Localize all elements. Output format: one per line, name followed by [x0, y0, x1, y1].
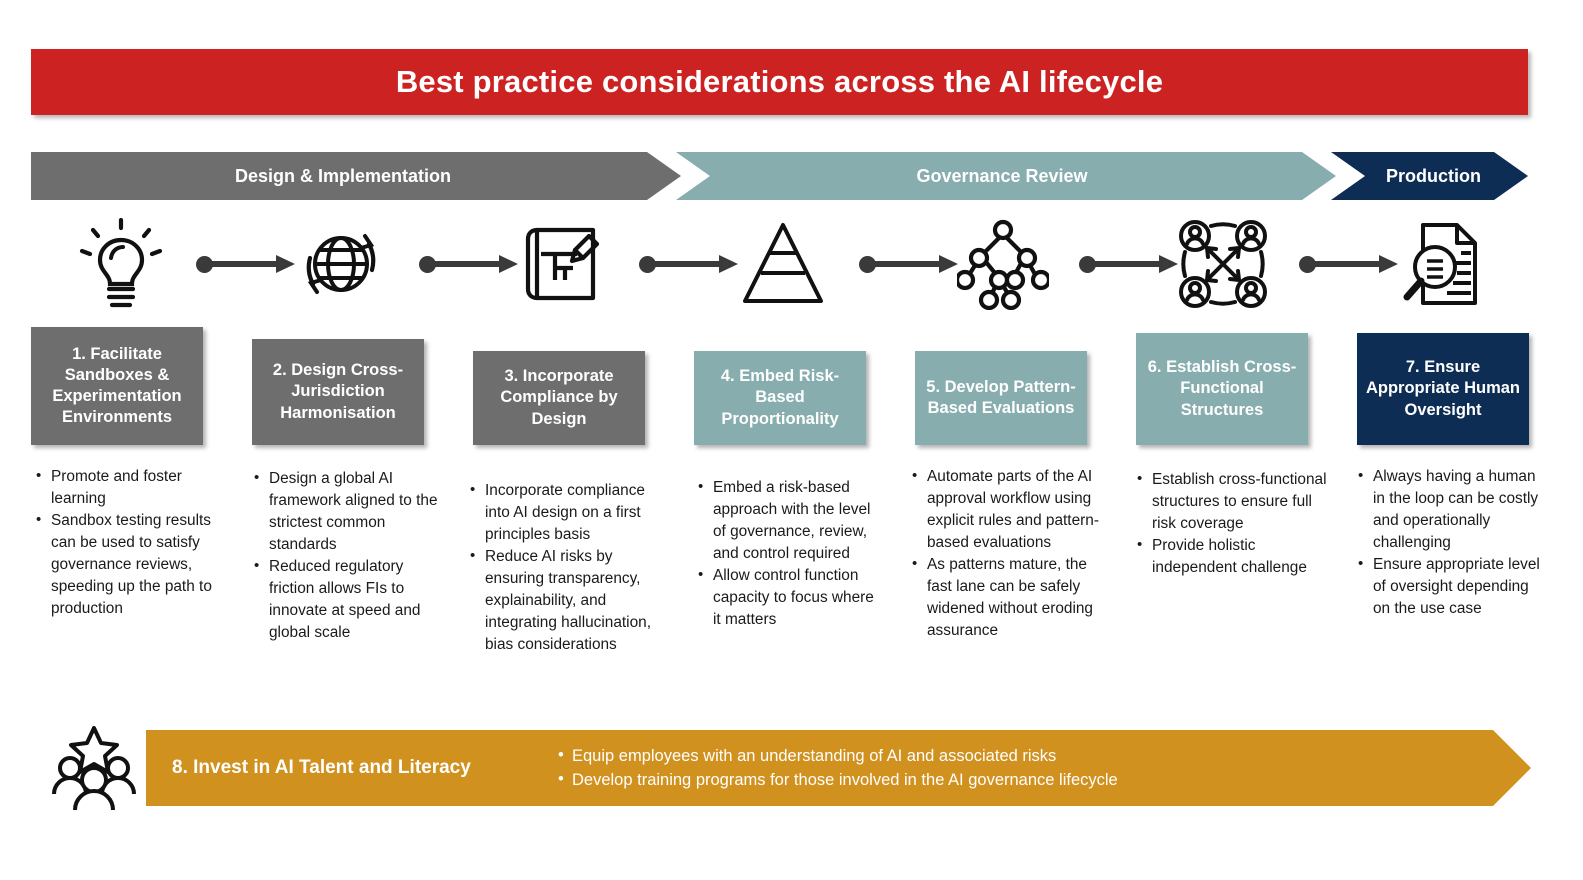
bullet-column-7: Always having a human in the loop can be… [1356, 466, 1548, 620]
list-item: Reduced regulatory friction allows FIs t… [252, 556, 438, 644]
step-box-6[interactable]: 6. Establish Cross-Functional Structures [1136, 333, 1308, 445]
step-box-3[interactable]: 3. Incorporate Compliance by Design [473, 351, 645, 445]
list-item: Equip employees with an understanding of… [558, 744, 1118, 768]
step-box-2[interactable]: 2. Design Cross-Jurisdiction Harmonisati… [252, 339, 424, 445]
pyramid-icon [723, 214, 843, 314]
footer-title: 8. Invest in AI Talent and Literacy [172, 757, 552, 779]
list-item: Provide holistic independent challenge [1135, 535, 1327, 579]
decision-tree-icon [943, 214, 1063, 314]
phase-chevron-design-implementation[interactable]: Design & Implementation [31, 152, 681, 200]
globe-refresh-icon [281, 214, 401, 314]
list-item: Embed a risk-based approach with the lev… [696, 477, 882, 565]
page-title: Best practice considerations across the … [396, 64, 1163, 100]
blueprint-pencil-icon [503, 214, 623, 314]
bullet-column-2: Design a global AI framework aligned to … [252, 468, 438, 644]
bullet-column-3: Incorporate compliance into AI design on… [468, 480, 654, 656]
bullet-columns: Promote and foster learning Sandbox test… [31, 466, 1551, 716]
list-item: Design a global AI framework aligned to … [252, 468, 438, 556]
list-item: Always having a human in the loop can be… [1356, 466, 1548, 554]
step-box-4[interactable]: 4. Embed Risk-Based Proportionality [694, 351, 866, 445]
bullet-column-5: Automate parts of the AI approval workfl… [910, 466, 1106, 642]
phase-label-design-implementation: Design & Implementation [31, 166, 681, 187]
list-item: Reduce AI risks by ensuring transparency… [468, 546, 654, 656]
team-star-icon [48, 722, 140, 814]
step-box-7[interactable]: 7. Ensure Appropriate Human Oversight [1357, 333, 1529, 445]
list-item: Ensure appropriate level of oversight de… [1356, 554, 1548, 620]
list-item: Allow control function capacity to focus… [696, 565, 882, 631]
step-box-5[interactable]: 5. Develop Pattern-Based Evaluations [915, 351, 1087, 445]
list-item: As patterns mature, the fast lane can be… [910, 554, 1106, 642]
bullet-column-6: Establish cross-functional structures to… [1135, 469, 1327, 579]
page-title-banner: Best practice considerations across the … [31, 49, 1528, 115]
phase-label-production: Production [1331, 166, 1528, 187]
phase-chevron-row: Design & Implementation Governance Revie… [31, 152, 1531, 200]
footer-bullets: Equip employees with an understanding of… [558, 744, 1118, 793]
list-item: Sandbox testing results can be used to s… [34, 510, 220, 620]
step-box-row: 1. Facilitate Sandboxes & Experimentatio… [31, 320, 1531, 445]
phase-label-governance-review: Governance Review [676, 166, 1336, 187]
bullet-column-1: Promote and foster learning Sandbox test… [34, 466, 220, 620]
list-item: Develop training programs for those invo… [558, 768, 1118, 792]
lifecycle-icon-row [31, 214, 1531, 314]
bullet-column-4: Embed a risk-based approach with the lev… [696, 477, 882, 631]
list-item: Automate parts of the AI approval workfl… [910, 466, 1106, 554]
step-box-1[interactable]: 1. Facilitate Sandboxes & Experimentatio… [31, 327, 203, 445]
cross-functional-network-icon [1163, 214, 1283, 314]
lightbulb-icon [61, 214, 181, 314]
list-item: Establish cross-functional structures to… [1135, 469, 1327, 535]
list-item: Promote and foster learning [34, 466, 220, 510]
list-item: Incorporate compliance into AI design on… [468, 480, 654, 546]
document-magnifier-icon [1383, 214, 1503, 314]
footer-banner[interactable]: 8. Invest in AI Talent and Literacy Equi… [146, 730, 1531, 806]
phase-chevron-governance-review[interactable]: Governance Review [676, 152, 1336, 200]
phase-chevron-production[interactable]: Production [1331, 152, 1528, 200]
